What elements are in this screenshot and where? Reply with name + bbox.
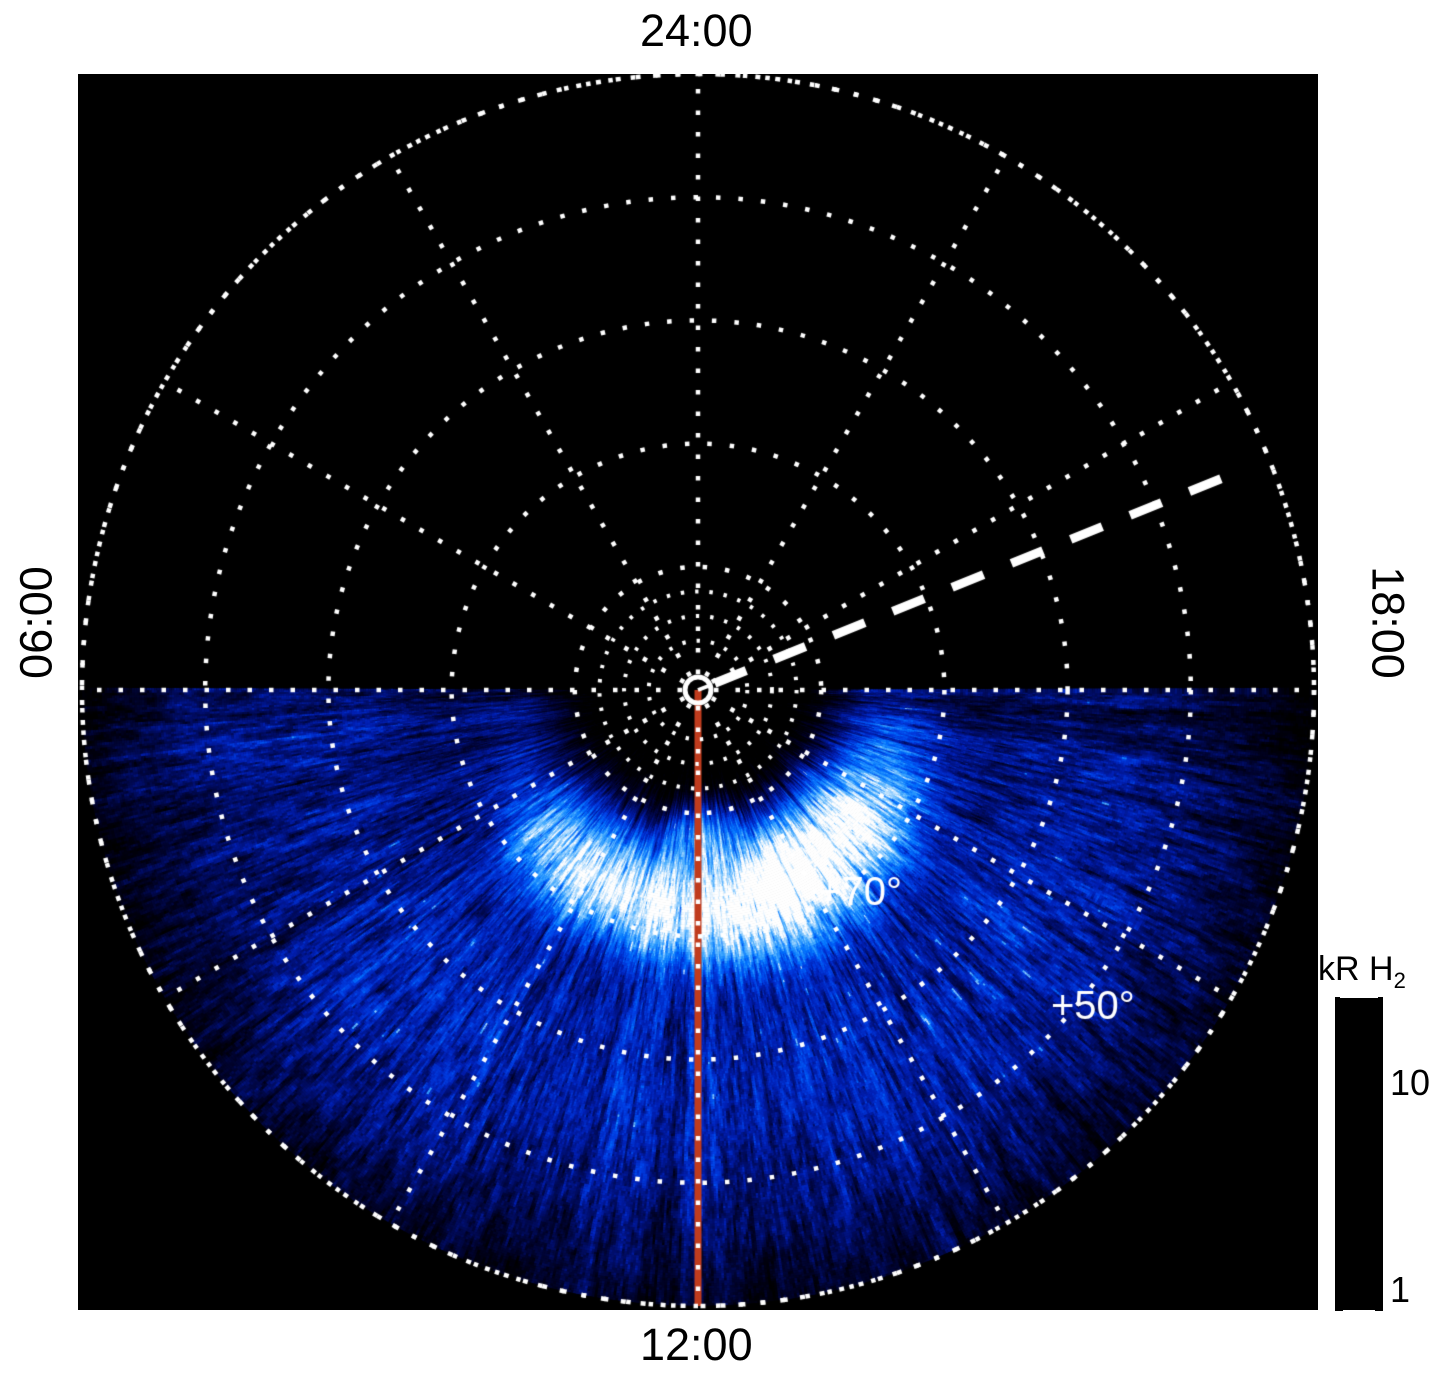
figure-root: 24:00 12:00 06:00 18:00 kR H2 10 1 +70° …	[0, 0, 1447, 1384]
colorbar-title-subscript: 2	[1394, 968, 1406, 993]
axis-label-left: 06:00	[14, 563, 59, 683]
latitude-label-50: +50°	[0, 0, 1, 1]
colorbar: kR H2 10 1	[1318, 950, 1447, 1330]
latitude-label-70: +70°	[0, 0, 1, 1]
polar-plot-area	[78, 74, 1318, 1310]
colorbar-gradient	[1337, 1000, 1381, 1308]
colorbar-tick-label-1: 1	[1390, 1272, 1410, 1308]
axis-label-right: 18:00	[1366, 563, 1411, 683]
colorbar-tick-label-10: 10	[1390, 1065, 1430, 1101]
colorbar-title-main: kR H	[1318, 950, 1394, 988]
axis-label-bottom: 12:00	[640, 1322, 753, 1367]
axis-label-top: 24:00	[640, 8, 753, 53]
colorbar-title: kR H2	[1318, 950, 1406, 994]
colorbar-gradient-box	[1335, 998, 1383, 1310]
auroral-heatmap-canvas	[78, 74, 1318, 1310]
